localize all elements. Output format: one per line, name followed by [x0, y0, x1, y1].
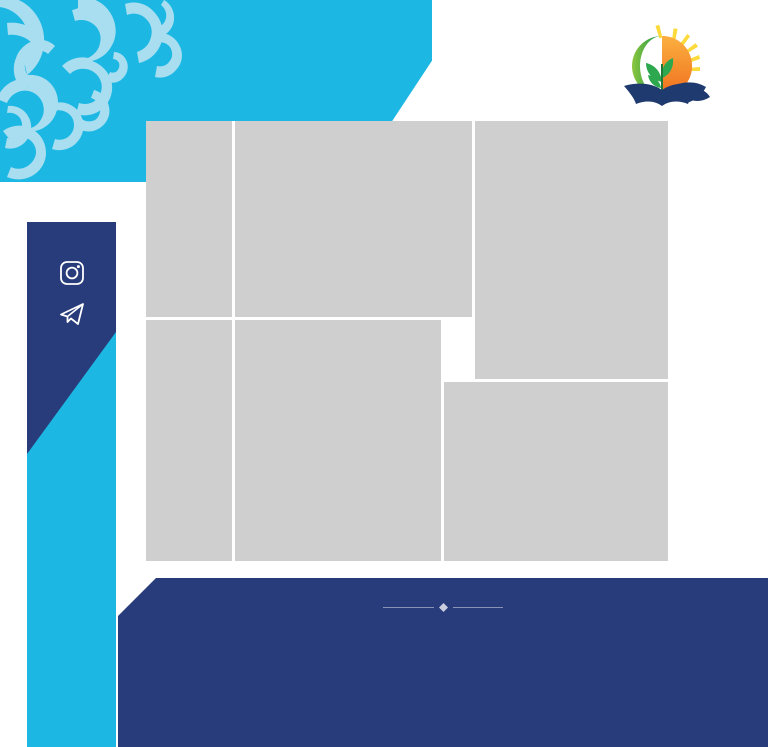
- photo-collage: [146, 121, 668, 561]
- divider-line-right: [453, 607, 504, 608]
- photo-blurred-left-top: [146, 121, 232, 317]
- social-sidebar: [27, 222, 116, 747]
- organization-logo: [604, 14, 716, 118]
- diamond-divider-icon: [439, 603, 448, 612]
- left-gutter: [0, 182, 27, 747]
- photo-blurred-left-bottom: [146, 320, 232, 561]
- photo-student-at-computer: [235, 121, 472, 317]
- logo-wordmark: [606, 98, 670, 108]
- divider-line-left: [383, 607, 434, 608]
- poster-root: [0, 0, 768, 747]
- photo-two-students-window: [235, 320, 441, 561]
- photo-boy-at-desk: [475, 121, 668, 379]
- instagram-icon[interactable]: [59, 260, 85, 286]
- bottom-gutter: [0, 743, 27, 747]
- caption-divider: [383, 603, 503, 612]
- sun-leaf-book-icon: [606, 22, 714, 110]
- caption-panel: [118, 578, 768, 747]
- telegram-icon[interactable]: [58, 300, 86, 328]
- photo-woman-laptop-studio: [444, 382, 668, 561]
